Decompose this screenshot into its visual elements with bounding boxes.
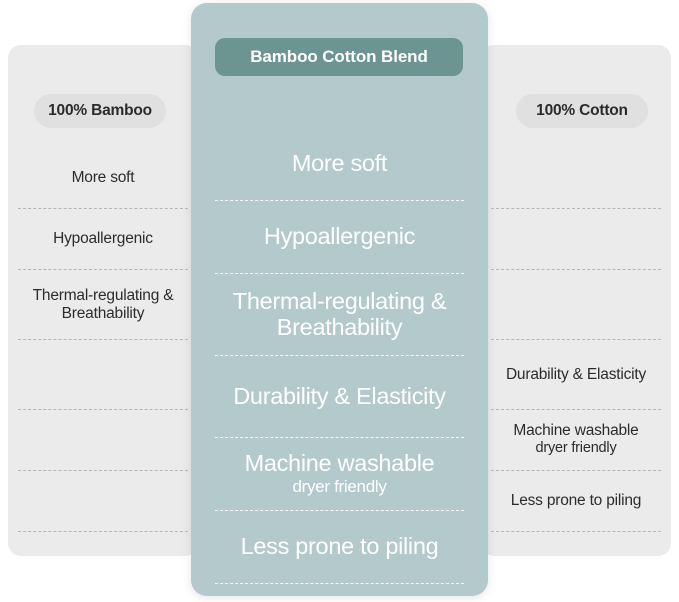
feature-label: Less prone to piling (241, 534, 439, 559)
badge-bamboo-cotton-blend: Bamboo Cotton Blend (215, 38, 463, 76)
feature-row: Hypoallergenic (18, 209, 188, 270)
feature-row-empty (491, 148, 661, 209)
feature-row: Durability & Elasticity (215, 356, 464, 438)
feature-label: Thermal-regulating & Breathability (18, 287, 188, 322)
feature-row: Less prone to piling (491, 471, 661, 532)
feature-row: Machine washable dryer friendly (491, 410, 661, 471)
feature-label: Durability & Elasticity (233, 384, 446, 409)
feature-label: Thermal-regulating & Breathability (215, 289, 464, 340)
column-bamboo-features: More soft Hypoallergenic Thermal-regulat… (8, 148, 198, 532)
column-cotton-features: Durability & Elasticity Machine washable… (481, 148, 671, 532)
feature-label: Machine washable (245, 451, 435, 476)
feature-sublabel: dryer friendly (535, 440, 616, 457)
feature-label: More soft (292, 151, 387, 176)
feature-row: Durability & Elasticity (491, 340, 661, 410)
feature-row: Thermal-regulating & Breathability (215, 274, 464, 356)
feature-row-empty (18, 340, 188, 410)
feature-label: Hypoallergenic (264, 224, 415, 249)
column-blend-features: More soft Hypoallergenic Thermal-regulat… (191, 128, 488, 584)
feature-row-empty (491, 209, 661, 270)
feature-row: Hypoallergenic (215, 201, 464, 274)
feature-row-empty (18, 410, 188, 471)
feature-row: Less prone to piling (215, 511, 464, 584)
badge-bamboo: 100% Bamboo (34, 94, 166, 128)
feature-row: Thermal-regulating & Breathability (18, 270, 188, 340)
feature-label: Less prone to piling (511, 492, 641, 509)
feature-row: More soft (215, 128, 464, 201)
feature-row: More soft (18, 148, 188, 209)
feature-label: More soft (72, 169, 135, 186)
feature-row-empty (18, 471, 188, 532)
feature-label: Durability & Elasticity (506, 366, 646, 383)
feature-row: Machine washable dryer friendly (215, 438, 464, 511)
badge-cotton: 100% Cotton (516, 94, 648, 128)
feature-sublabel: dryer friendly (292, 477, 386, 497)
comparison-board: 100% Bamboo Bamboo Cotton Blend 100% Cot… (0, 0, 679, 602)
feature-row-empty (491, 270, 661, 340)
feature-label: Hypoallergenic (53, 230, 153, 247)
feature-label: Machine washable (513, 422, 638, 439)
